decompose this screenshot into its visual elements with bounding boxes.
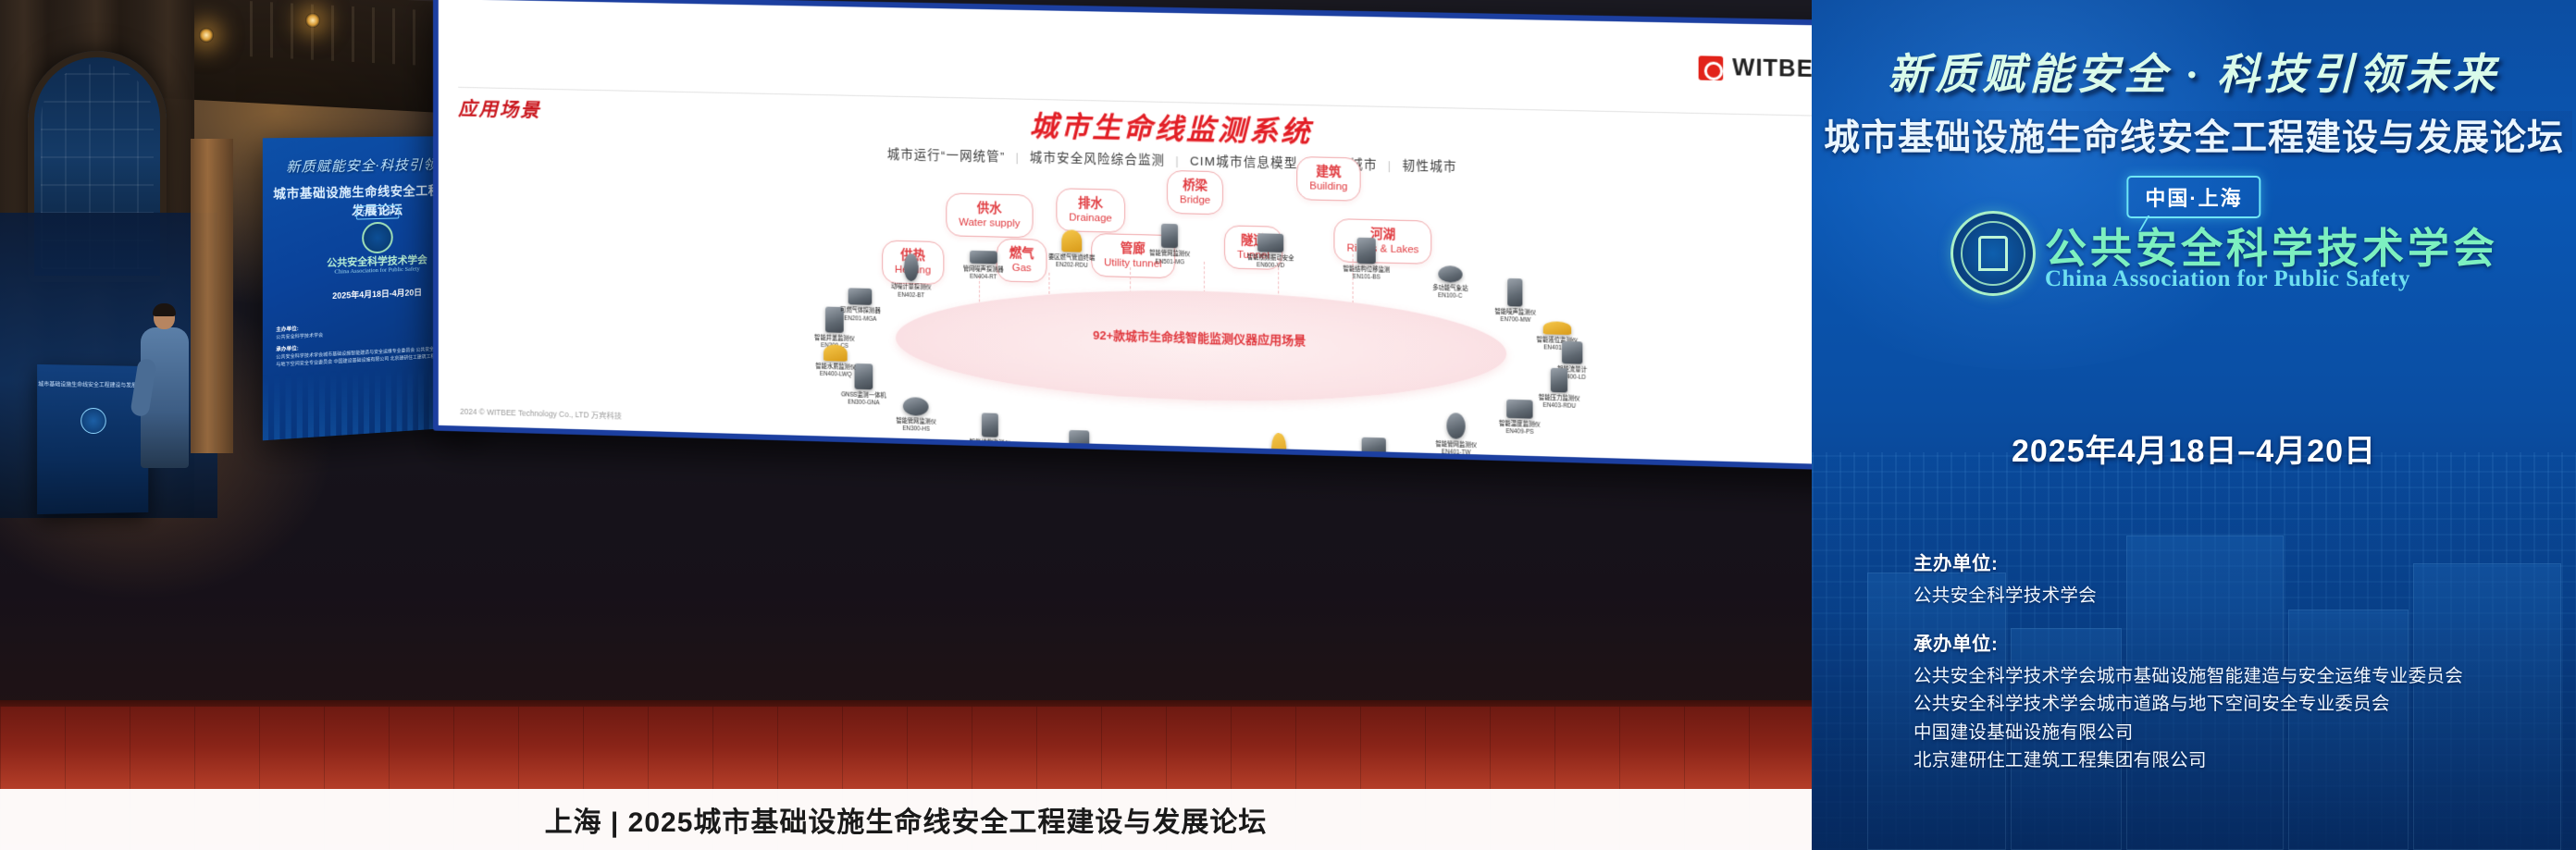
device-model: EN202-RDU xyxy=(1056,262,1088,269)
device-image xyxy=(941,226,1025,265)
device-item: 智能水质监测仪EN400-LWQ xyxy=(794,323,878,379)
device-icon xyxy=(1161,224,1178,248)
host-label: 主办单位: xyxy=(1913,548,2554,575)
device-model: EN300-HS xyxy=(902,425,930,433)
device-item: 智能管网监测仪EN401-TW xyxy=(1413,400,1499,458)
banner-date: 2025年4月18日–4月20日 xyxy=(1812,425,2576,471)
device-model: EN501-MG xyxy=(1156,258,1184,265)
banner-forum-title: 城市基础设施生命线安全工程建设与发展论坛 xyxy=(1812,109,2576,161)
device-item: 智能结构位移监测EN101-BS xyxy=(1324,226,1410,283)
bubble-en: Building xyxy=(1309,179,1347,193)
subtitle-separator: | xyxy=(1170,154,1184,167)
device-icon xyxy=(1506,399,1532,418)
bubble-cn: 建筑 xyxy=(1309,164,1347,180)
organizer-item: 北京建研住工建筑工程集团有限公司 xyxy=(1913,746,2554,774)
device-item: 管网噪声探测器EN404-RT xyxy=(941,226,1025,282)
device-image xyxy=(947,399,1032,437)
device-image xyxy=(1413,400,1499,440)
presentation-screen: WITBEE 万宾 应用场景 城市生命线监测系统 城市运行“一网统管” | 城市… xyxy=(433,0,1931,473)
category-bubble-bridge: 桥梁 Bridge xyxy=(1167,170,1223,216)
stage-light xyxy=(305,13,320,28)
device-caption: 智能结构位移监测EN101-BS xyxy=(1324,265,1410,283)
device-model: EN201-MGA xyxy=(844,314,876,322)
banner-association-en: China Association for Public Safety xyxy=(2045,266,2410,292)
device-item: 智能管网监测仪EN501-MG xyxy=(1127,210,1212,267)
slide-footer: 2024 © WITBEE Technology Co., LTD 万宾科技 xyxy=(460,406,622,422)
subtitle-separator: | xyxy=(1010,150,1024,164)
device-image xyxy=(1228,215,1313,253)
organizer-item: 公共安全科学技术学会城市基础设施智能建造与安全运维专业委员会 xyxy=(1913,662,2554,690)
slide-content: WITBEE 万宾 应用场景 城市生命线监测系统 城市运行“一网统管” | 城市… xyxy=(439,0,1926,467)
device-model: EN100-C xyxy=(1438,292,1462,300)
device-model: EN409-PS xyxy=(1505,428,1533,436)
association-seal-icon xyxy=(1951,211,2036,296)
device-caption: 要区燃气管道终端EN202-RDU xyxy=(1030,253,1115,271)
device-item: 智能视频振动安全EN600-VD xyxy=(1228,215,1313,272)
conference-banner: 新质赋能安全 · 科技引领未来 城市基础设施生命线安全工程建设与发展论坛 中国·… xyxy=(1812,0,2576,850)
subtitle-item: 城市安全风险综合监测 xyxy=(1030,151,1165,167)
device-caption: 智能管网监测仪EN501-MG xyxy=(1127,250,1212,267)
device-icon xyxy=(824,344,848,362)
organizer-label: 承办单位: xyxy=(1913,628,2554,656)
device-icon xyxy=(1061,229,1082,252)
witbee-logo-icon xyxy=(1698,55,1723,80)
device-model: EN402-BT xyxy=(898,291,924,299)
bubble-cn: 供水 xyxy=(959,201,1020,217)
bubble-cn: 桥梁 xyxy=(1180,178,1210,194)
device-caption: 动噪计量探测仪EN402-BT xyxy=(869,283,953,301)
device-model: EN600-VD xyxy=(1257,263,1284,270)
device-icon xyxy=(1257,233,1283,253)
organizer-item: 中国建设基础设施有限公司 xyxy=(1913,719,2554,746)
banner-location-chip: 中国·上海 xyxy=(2126,176,2260,218)
device-image xyxy=(1127,210,1212,249)
organizer-item: 公共安全科学技术学会城市道路与地下空间安全专业委员会 xyxy=(1913,690,2554,718)
podium-label: 城市基础设施生命线安全工程建设与发展论坛 xyxy=(37,379,148,389)
bottom-caption-text: 上海 | 2025城市基础设施生命线安全工程建设与发展论坛 xyxy=(545,799,1268,840)
bubble-en: Bridge xyxy=(1180,193,1210,207)
device-icon xyxy=(970,251,997,265)
device-model: EN300-GNA xyxy=(848,400,880,407)
subtitle-item: 城市运行“一网统管” xyxy=(887,147,1006,164)
category-bubble-building: 建筑 Building xyxy=(1296,156,1360,202)
device-image xyxy=(794,323,878,362)
device-item: 要区燃气管道终端EN202-RDU xyxy=(1030,215,1115,271)
host-item: 公共安全科学技术学会 xyxy=(1913,582,2554,610)
device-caption: GNSS监测一体机EN300-GNA xyxy=(822,391,906,409)
subtitle-separator: | xyxy=(1383,158,1397,172)
device-caption: 智能水质监测仪EN400-LWQ xyxy=(794,363,878,380)
host-group: 主办单位: 公共安全科学技术学会 xyxy=(1913,548,2554,610)
speaker-hair xyxy=(153,303,176,316)
bottom-caption-bar: 上海 | 2025城市基础设施生命线安全工程建设与发展论坛 xyxy=(0,789,1812,850)
wood-column xyxy=(191,139,233,453)
speaker-person xyxy=(139,305,194,467)
device-icon xyxy=(1357,238,1376,265)
side-banner-chip: 中国·上海 xyxy=(356,204,399,219)
device-image xyxy=(1030,215,1115,253)
device-caption: 管网噪声探测器EN404-RT xyxy=(941,265,1025,283)
stage-light xyxy=(199,28,214,43)
organizer-group: 承办单位: 公共安全科学技术学会城市基础设施智能建造与安全运维专业委员会 公共安… xyxy=(1913,628,2554,774)
device-model: EN404-RT xyxy=(970,274,997,281)
device-caption: 智能管网监测仪EN300-HS xyxy=(874,417,959,435)
bubble-cn: 排水 xyxy=(1069,195,1111,212)
podium: 城市基础设施生命线安全工程建设与发展论坛 xyxy=(37,364,148,514)
device-icon xyxy=(903,397,929,416)
banner-calligraphy: 新质赋能安全 · 科技引领未来 xyxy=(1812,41,2576,102)
screenshot-root: 新质赋能安全·科技引领未来 城市基础设施生命线安全工程建设与发展论坛 中国·上海… xyxy=(0,0,2576,850)
podium-logo-icon xyxy=(80,408,106,434)
subtitle-item: 韧性城市 xyxy=(1402,159,1456,174)
device-model: EN400-LWQ xyxy=(820,371,852,378)
device-icon xyxy=(1447,413,1466,439)
device-image xyxy=(1324,226,1410,265)
banner-organizers: 主办单位: 公共安全科学技术学会 承办单位: 公共安全科学技术学会城市基础设施智… xyxy=(1913,548,2554,793)
association-seal-icon xyxy=(362,222,393,254)
device-icon xyxy=(982,413,998,437)
side-banner-host-item: 公共安全科学技术学会 xyxy=(276,332,323,340)
subtitle-item: CIM城市信息模型 xyxy=(1190,154,1298,170)
device-caption: 可燃气体探测器EN201-MGA xyxy=(819,307,903,325)
device-icon xyxy=(904,253,919,281)
device-model: EN101-BS xyxy=(1353,274,1381,281)
device-image xyxy=(1331,415,1417,455)
device-caption: 智能视频振动安全EN600-VD xyxy=(1228,254,1313,272)
device-icon xyxy=(1438,265,1462,283)
